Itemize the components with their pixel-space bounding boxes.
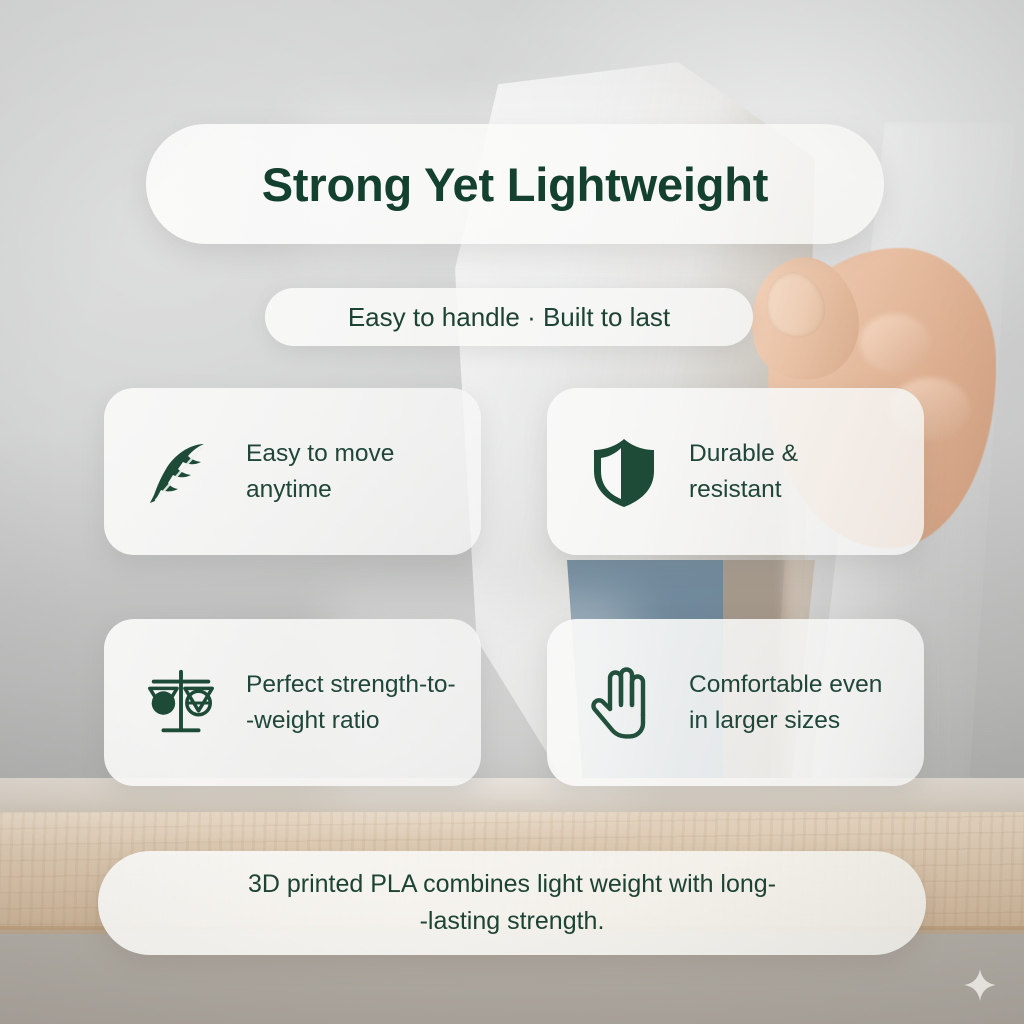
feature-card-label: Perfect strength-to- -weight ratio: [246, 667, 456, 738]
sparkle-icon: [963, 968, 997, 1002]
open-hand-icon: [585, 664, 663, 742]
feature-card-label: Comfortable even in larger sizes: [689, 667, 882, 738]
feature-card-label: Easy to move anytime: [246, 436, 394, 507]
shield-icon: [585, 433, 663, 511]
balance-scale-icon: [142, 664, 220, 742]
feature-card-easy-to-move[interactable]: Easy to move anytime: [104, 388, 481, 555]
footer-caption: 3D printed PLA combines light weight wit…: [248, 866, 776, 940]
page-title: Strong Yet Lightweight: [262, 157, 769, 212]
feature-grid: Easy to move anytime Durable & resistant: [104, 388, 924, 786]
feature-card-comfortable[interactable]: Comfortable even in larger sizes: [547, 619, 924, 786]
feature-card-label: Durable & resistant: [689, 436, 798, 507]
feather-icon: [142, 433, 220, 511]
subtitle-pill: Easy to handle · Built to last: [265, 288, 753, 346]
feature-card-durable[interactable]: Durable & resistant: [547, 388, 924, 555]
footer-caption-pill: 3D printed PLA combines light weight wit…: [98, 851, 926, 955]
page-subtitle: Easy to handle · Built to last: [348, 302, 670, 333]
product-feature-card: Strong Yet Lightweight Easy to handle · …: [0, 0, 1024, 1024]
title-pill: Strong Yet Lightweight: [146, 124, 884, 244]
feature-card-strength-ratio[interactable]: Perfect strength-to- -weight ratio: [104, 619, 481, 786]
